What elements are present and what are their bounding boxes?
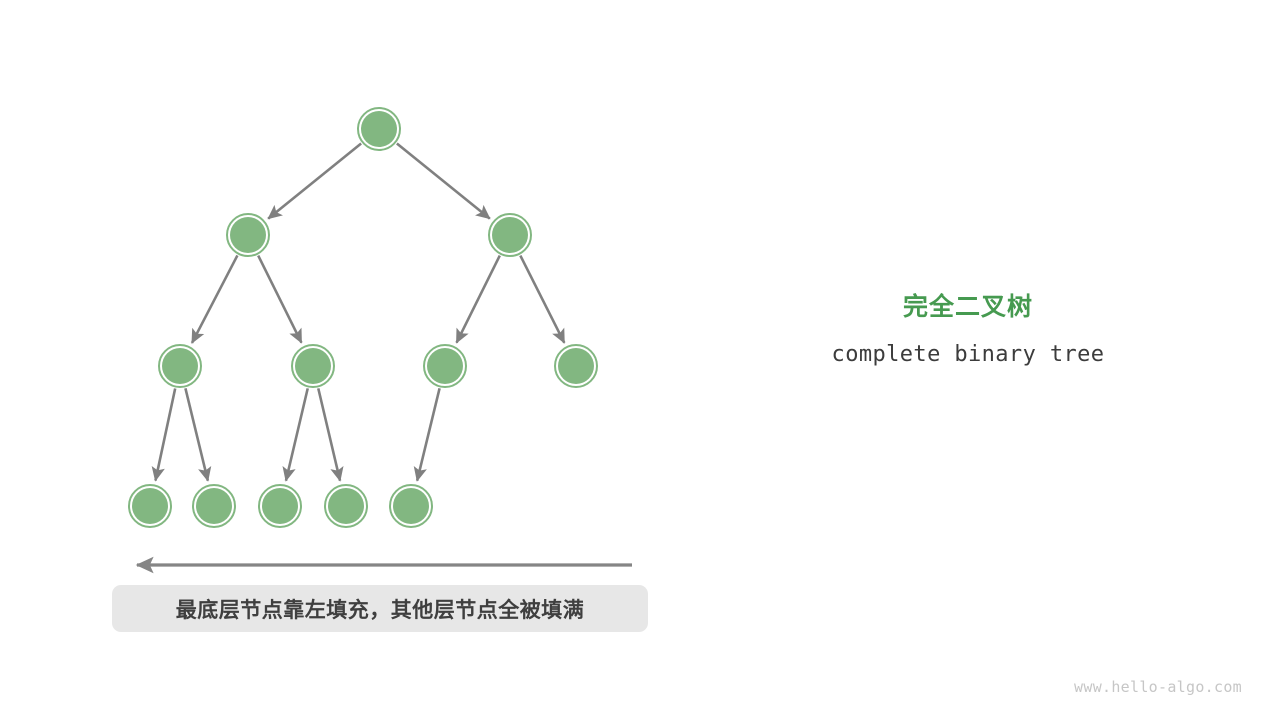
tree-edge	[192, 255, 237, 343]
node-fill	[328, 488, 364, 524]
tree-node	[159, 345, 201, 387]
caption-text: 最底层节点靠左填充，其他层节点全被填满	[176, 594, 585, 624]
legend-title: 完全二叉树	[790, 292, 1146, 322]
tree-edge	[520, 256, 564, 343]
tree-edge	[397, 143, 490, 218]
tree-node	[193, 485, 235, 527]
tree-node	[555, 345, 597, 387]
tree-node	[489, 214, 531, 256]
tree-edges	[155, 143, 564, 480]
complete-binary-tree-figure: 最底层节点靠左填充，其他层节点全被填满 完全二叉树 complete binar…	[0, 0, 1280, 720]
node-fill	[230, 217, 266, 253]
tree-edge	[268, 143, 361, 218]
node-fill	[558, 348, 594, 384]
tree-edge	[155, 388, 175, 480]
node-fill	[262, 488, 298, 524]
tree-node	[129, 485, 171, 527]
tree-node	[325, 485, 367, 527]
node-fill	[393, 488, 429, 524]
legend-subtitle: complete binary tree	[790, 342, 1146, 368]
tree-edge	[185, 388, 207, 480]
tree-edge	[286, 388, 308, 480]
tree-node	[259, 485, 301, 527]
node-fill	[427, 348, 463, 384]
tree-node	[390, 485, 432, 527]
legend-block: 完全二叉树 complete binary tree	[790, 292, 1146, 368]
watermark: www.hello-algo.com	[1074, 678, 1242, 696]
node-fill	[361, 111, 397, 147]
tree-edge	[417, 388, 439, 480]
tree-node	[424, 345, 466, 387]
node-fill	[132, 488, 168, 524]
tree-nodes	[129, 108, 597, 527]
caption-pill: 最底层节点靠左填充，其他层节点全被填满	[112, 585, 648, 632]
node-fill	[295, 348, 331, 384]
node-fill	[196, 488, 232, 524]
tree-node	[227, 214, 269, 256]
tree-node	[292, 345, 334, 387]
tree-node	[358, 108, 400, 150]
tree-edge	[318, 388, 340, 480]
node-fill	[162, 348, 198, 384]
node-fill	[492, 217, 528, 253]
tree-edge	[258, 256, 301, 343]
tree-edge	[457, 256, 500, 343]
